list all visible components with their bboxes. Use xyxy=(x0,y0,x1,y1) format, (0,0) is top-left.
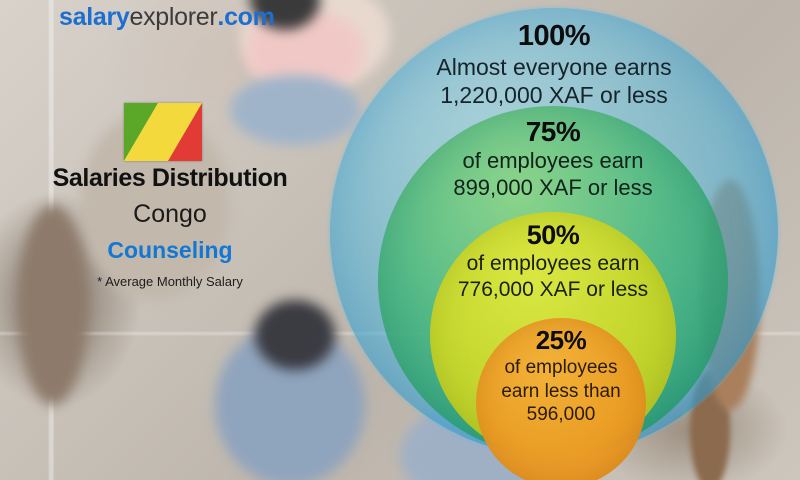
site-logo[interactable]: salaryexplorer.com xyxy=(59,3,275,32)
percentile-75-line1: of employees earn xyxy=(463,148,644,175)
percentile-50-line2: 776,000 XAF or less xyxy=(458,277,648,303)
left-info-panel: Salaries Distribution Congo Counseling *… xyxy=(0,165,340,289)
percentile-100-line1: Almost everyone earns xyxy=(436,53,671,81)
country-label: Congo xyxy=(0,201,340,227)
percentile-circle-25[interactable]: 25% of employees earn less than 596,000 xyxy=(476,318,646,480)
percentile-50-line1: of employees earn xyxy=(467,251,640,277)
percentile-100-line2: 1,220,000 XAF or less xyxy=(440,81,668,109)
salary-note-label: * Average Monthly Salary xyxy=(0,274,340,289)
percentile-75-value: 75% xyxy=(526,116,581,148)
logo-part-domain: .com xyxy=(217,3,274,31)
congo-flag-icon xyxy=(124,103,202,161)
logo-part-explorer: explorer xyxy=(130,3,218,31)
percentile-75-line2: 899,000 XAF or less xyxy=(453,175,652,202)
percentile-25-value: 25% xyxy=(536,325,587,356)
percentile-25-line3: 596,000 xyxy=(527,403,596,427)
page-title: Salaries Distribution xyxy=(0,165,340,191)
percentile-25-line1: of employees xyxy=(504,356,617,380)
logo-part-salary: salary xyxy=(59,3,130,31)
percentile-100-value: 100% xyxy=(518,20,590,53)
job-title-label: Counseling xyxy=(0,238,340,263)
percentile-50-value: 50% xyxy=(527,220,580,251)
percentile-25-line2: earn less than xyxy=(501,380,620,404)
